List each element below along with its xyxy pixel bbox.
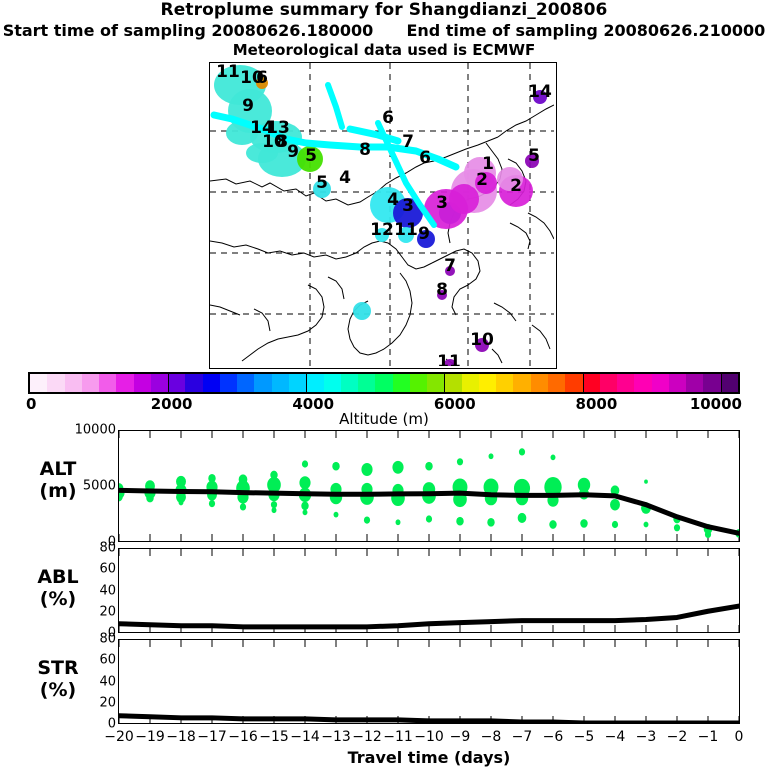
x-tick-label: −3	[636, 729, 657, 745]
alt-scatter-dot	[360, 489, 374, 505]
alt-scatter-dot	[299, 476, 310, 489]
map-day-label: 7	[402, 132, 414, 152]
altitude-colorbar[interactable]	[28, 372, 740, 394]
colorbar-swatch	[479, 374, 496, 392]
colorbar-swatch	[203, 374, 220, 392]
map-day-label: 3	[436, 193, 448, 213]
alt-scatter-dot	[551, 455, 556, 461]
str-plot-canvas	[119, 640, 739, 723]
x-tick-label: −11	[383, 729, 413, 745]
colorbar-swatch	[272, 374, 289, 392]
colorbar-swatch	[116, 374, 133, 392]
str-plot-panel[interactable]	[118, 639, 740, 724]
retroplume-map-panel[interactable]: 1110914131098876654543121193221654314578…	[209, 62, 557, 369]
x-tick-label: −10	[414, 729, 444, 745]
colorbar-swatch	[669, 374, 686, 392]
x-tick-label: −18	[166, 729, 196, 745]
colorbar-swatch	[341, 374, 358, 392]
map-day-label: 11	[216, 63, 240, 82]
colorbar-swatch	[565, 374, 582, 392]
colorbar-swatch	[358, 374, 375, 392]
x-axis-tick-labels: −20−19−18−17−16−15−14−13−12−11−10−9−8−7−…	[118, 729, 740, 749]
alt-scatter-dot	[392, 461, 403, 474]
colorbar-swatch	[134, 374, 151, 392]
alt-scatter-dot	[303, 510, 308, 516]
colorbar-swatch	[617, 374, 634, 392]
alt-scatter-dot	[705, 531, 711, 538]
map-day-label: 8	[359, 140, 371, 160]
colorbar-swatch	[99, 374, 116, 392]
alt-scatter-dot	[425, 462, 432, 471]
alt-scatter-dot	[364, 517, 370, 524]
y-tick-label: 20	[56, 604, 116, 619]
x-tick-label: −13	[321, 729, 351, 745]
map-day-label: 5	[316, 173, 328, 193]
alt-scatter-dot	[518, 513, 527, 523]
colorbar-swatch	[583, 374, 600, 392]
map-day-label: 5	[528, 146, 540, 166]
map-day-label: 9	[418, 224, 430, 244]
y-tick-label: 80	[56, 541, 116, 556]
map-day-label: 8	[436, 280, 448, 300]
colorbar-swatch	[220, 374, 237, 392]
colorbar-swatch	[393, 374, 410, 392]
map-day-label: 9	[242, 96, 254, 116]
x-tick-label: −5	[574, 729, 595, 745]
colorbar-swatch	[496, 374, 513, 392]
x-tick-label: −2	[667, 729, 688, 745]
colorbar-swatch	[168, 374, 185, 392]
alt-scatter-dot	[272, 507, 277, 513]
alt-scatter-dot	[580, 519, 587, 528]
map-canvas: 1110914131098876654543121193221654314578…	[210, 63, 554, 366]
alt-y-tick-labels: 1000050000	[56, 430, 116, 542]
alt-plot-panel[interactable]	[118, 430, 740, 542]
colorbar-swatch	[462, 374, 479, 392]
y-tick-label: 10000	[56, 423, 116, 438]
alt-scatter-dot	[240, 503, 246, 510]
colorbar-swatch	[686, 374, 703, 392]
alt-scatter-dot	[334, 512, 339, 518]
map-day-label: 1	[482, 154, 494, 174]
map-day-label: 7	[444, 256, 456, 276]
alt-scatter-dot	[396, 519, 401, 525]
colorbar-swatch	[427, 374, 444, 392]
start-time-label: Start time of sampling 20080626.180000	[3, 21, 374, 40]
abl-plot-panel[interactable]	[118, 548, 740, 633]
x-axis-label: Travel time (days)	[118, 748, 740, 767]
y-tick-label: 5000	[56, 479, 116, 494]
colorbar-swatch	[47, 374, 64, 392]
colorbar-swatch	[324, 374, 341, 392]
colorbar-swatch	[444, 374, 461, 392]
y-tick-label: 80	[56, 632, 116, 647]
colorbar-swatch	[410, 374, 427, 392]
x-tick-label: −20	[104, 729, 134, 745]
map-day-label: 3	[402, 196, 414, 216]
str-y-tick-labels: 806040200	[56, 639, 116, 724]
end-time-label: End time of sampling 20080626.210000	[406, 21, 765, 40]
colorbar-swatch	[82, 374, 99, 392]
y-tick-label: 40	[56, 583, 116, 598]
sampling-time-line: Start time of sampling 20080626.180000 E…	[0, 21, 768, 41]
colorbar-swatch	[151, 374, 168, 392]
y-tick-label: 60	[56, 562, 116, 577]
colorbar-swatch	[652, 374, 669, 392]
colorbar-swatch	[531, 374, 548, 392]
met-data-label: Meteorological data used is ECMWF	[0, 41, 768, 60]
map-day-label: 5	[305, 146, 317, 166]
map-day-label: 12	[370, 220, 394, 240]
y-tick-label: 20	[56, 695, 116, 710]
alt-scatter-dot	[332, 462, 339, 471]
x-tick-label: −7	[512, 729, 533, 745]
map-day-label: 8	[276, 132, 288, 152]
x-tick-label: −9	[450, 729, 471, 745]
alt-scatter-dot	[209, 500, 215, 507]
x-tick-label: −17	[197, 729, 227, 745]
x-tick-label: −15	[259, 729, 289, 745]
alt-scatter-dot	[457, 458, 463, 465]
map-day-label: 2	[510, 176, 522, 196]
alt-scatter-dot	[361, 463, 372, 476]
alt-scatter-dot	[610, 499, 620, 511]
map-day-label: 11	[394, 220, 418, 240]
alt-scatter-dot	[302, 460, 308, 467]
alt-scatter-dot	[179, 500, 184, 506]
colorbar-swatch	[65, 374, 82, 392]
x-tick-label: 0	[735, 729, 744, 745]
alt-scatter-dot	[456, 517, 463, 526]
map-day-label: 10	[470, 330, 494, 350]
abl-series-line	[119, 606, 739, 627]
map-day-label: 6	[419, 148, 431, 168]
x-tick-label: −12	[352, 729, 382, 745]
x-tick-label: −4	[605, 729, 626, 745]
colorbar-swatch	[254, 374, 271, 392]
x-tick-label: −16	[228, 729, 258, 745]
x-tick-label: −14	[290, 729, 320, 745]
alt-scatter-dot	[644, 522, 649, 528]
colorbar-swatches	[28, 372, 740, 394]
map-day-label: 6	[382, 108, 394, 128]
colorbar-swatch	[306, 374, 323, 392]
colorbar-swatch	[289, 374, 306, 392]
map-day-label: 4	[387, 190, 399, 210]
abl-plot-canvas	[119, 549, 739, 632]
y-tick-label: 60	[56, 653, 116, 668]
alt-scatter-dot	[271, 501, 277, 508]
alt-scatter-dot	[301, 501, 308, 510]
page-title: Retroplume summary for Shangdianzi_20080…	[0, 0, 768, 21]
x-tick-label: −6	[543, 729, 564, 745]
colorbar-swatch	[548, 374, 565, 392]
map-day-label: 6	[256, 68, 268, 88]
map-day-label: 11	[437, 352, 461, 366]
alt-scatter-dot	[146, 494, 153, 503]
map-day-label: 14	[528, 82, 552, 102]
alt-scatter-dot	[644, 479, 648, 483]
str-axis-ticks	[119, 640, 739, 723]
alt-scatter-dot	[489, 453, 494, 459]
alt-scatter-dot	[612, 521, 618, 528]
colorbar-swatch	[703, 374, 720, 392]
abl-y-tick-labels: 806040200	[56, 548, 116, 633]
colorbar-swatch	[185, 374, 202, 392]
colorbar-swatch	[634, 374, 651, 392]
x-tick-label: −1	[698, 729, 719, 745]
colorbar-swatch	[721, 374, 738, 392]
alt-plot-canvas	[119, 431, 739, 541]
map-day-label: 9	[287, 142, 299, 162]
colorbar-swatch	[513, 374, 530, 392]
y-tick-label: 40	[56, 674, 116, 689]
colorbar-swatch	[237, 374, 254, 392]
alt-scatter-dot	[487, 518, 494, 527]
colorbar-swatch	[600, 374, 617, 392]
alt-scatter-dot	[426, 515, 432, 522]
x-tick-label: −19	[135, 729, 165, 745]
alt-scatter-dot	[549, 520, 556, 529]
map-day-label: 4	[339, 168, 351, 188]
alt-scatter-dot	[674, 524, 680, 531]
alt-scatter-dot	[519, 448, 525, 455]
colorbar-swatch	[375, 374, 392, 392]
x-tick-label: −8	[481, 729, 502, 745]
colorbar-swatch	[30, 374, 47, 392]
title-block: Retroplume summary for Shangdianzi_20080…	[0, 0, 768, 60]
